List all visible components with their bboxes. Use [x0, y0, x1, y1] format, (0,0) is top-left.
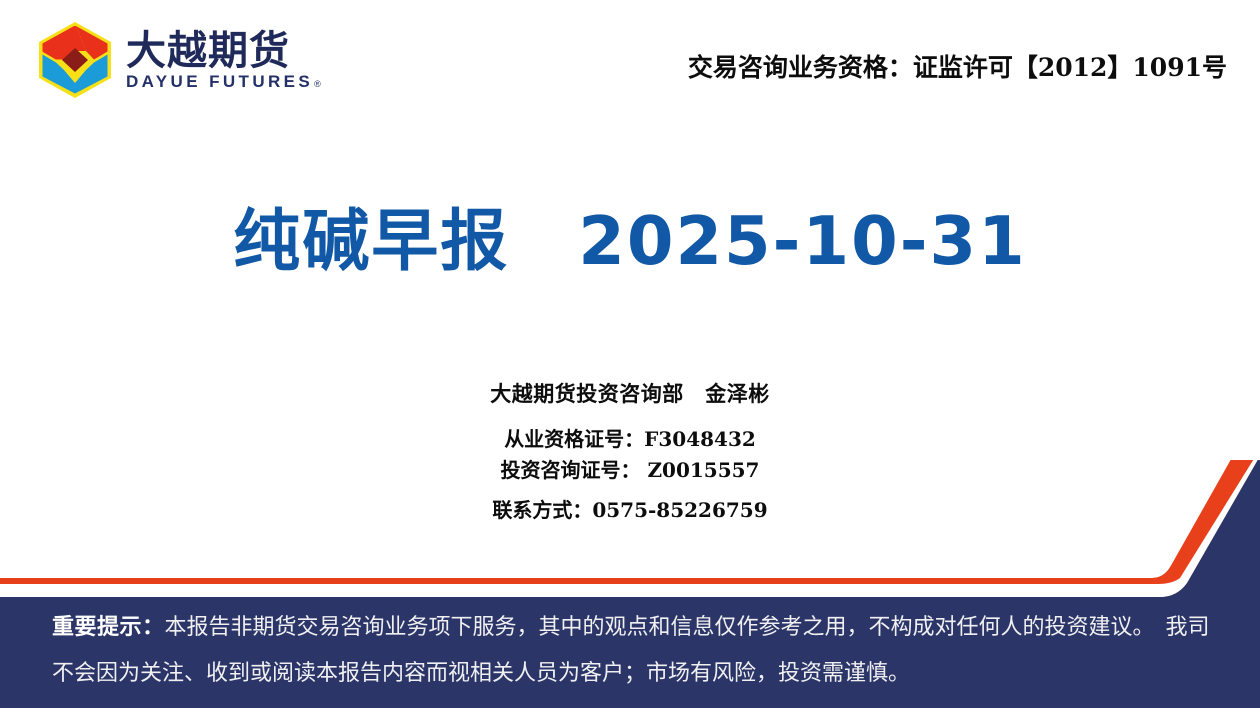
slide-header: 大越期货 DAYUE FUTURES ® 交易咨询业务资格：证监许可【2012】…: [0, 0, 1260, 120]
disclaimer-banner: 重要提示：本报告非期货交易咨询业务项下服务，其中的观点和信息仅作参考之用，不构成…: [0, 606, 1260, 698]
orange-stripe: [0, 460, 1260, 591]
registered-trademark-icon: ®: [314, 80, 321, 89]
logo-wordmark: 大越期货 DAYUE FUTURES ®: [126, 28, 321, 92]
employment-certificate: 从业资格证号：F3048432: [0, 429, 1260, 449]
title-row: 纯碱早报 2025-10-31: [0, 206, 1260, 276]
slide-canvas: 大越期货 DAYUE FUTURES ® 交易咨询业务资格：证监许可【2012】…: [0, 0, 1260, 708]
company-logo: 大越期货 DAYUE FUTURES ®: [36, 20, 321, 100]
page-title: 纯碱早报 2025-10-31: [233, 206, 1027, 276]
disclaimer-label: 重要提示：: [52, 615, 165, 640]
logo-chinese-name: 大越期货: [126, 30, 321, 72]
author-department: 大越期货投资咨询部 金泽彬: [0, 382, 1260, 407]
dayue-hexagon-logo-icon: [36, 20, 114, 100]
logo-english-row: DAYUE FUTURES ®: [126, 72, 321, 92]
orange-stripe-front: [0, 460, 1260, 584]
band-white-gap-2: [0, 460, 1260, 591]
logo-english-name: DAYUE FUTURES: [126, 72, 313, 92]
disclaimer-text: 本报告非期货交易咨询业务项下服务，其中的观点和信息仅作参考之用，不构成对任何人的…: [52, 615, 1210, 686]
license-statement: 交易咨询业务资格：证监许可【2012】1091号: [688, 48, 1227, 84]
